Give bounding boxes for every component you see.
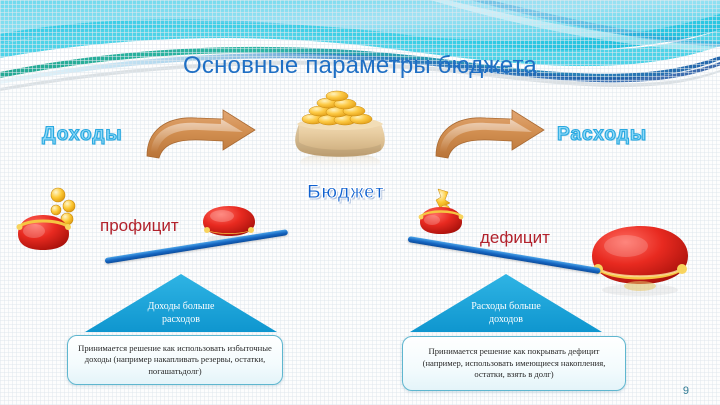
caption-surplus: профицит — [100, 216, 179, 236]
triangle-surplus-line2: расходов — [85, 313, 277, 326]
callout-surplus: Принимается решение как использовать изб… — [67, 335, 283, 385]
curved-arrow-right-icon-right — [432, 108, 547, 169]
triangle-surplus-text: Доходы больше расходов — [85, 300, 277, 326]
callout-deficit: Принимается решение как покрывать дефици… — [402, 336, 626, 391]
label-budget: Бюджет — [307, 182, 385, 204]
label-expenses: Расходы — [557, 124, 647, 146]
open-red-purse-with-coins-image — [12, 186, 98, 259]
page-title: Основные параметры бюджета — [0, 52, 720, 80]
triangle-deficit: Расходы больше доходов — [410, 274, 602, 334]
label-income: Доходы — [42, 124, 123, 146]
triangle-surplus: Доходы больше расходов — [85, 274, 277, 334]
caption-deficit: дефицит — [480, 228, 550, 248]
triangle-deficit-text: Расходы больше доходов — [410, 300, 602, 326]
slide: Основные параметры бюджета Доходы Расход… — [0, 0, 720, 405]
page-number: 9 — [683, 385, 689, 397]
triangle-deficit-line1: Расходы больше — [410, 300, 602, 313]
money-bag-with-coins-image — [283, 86, 397, 179]
triangle-deficit-line2: доходов — [410, 313, 602, 326]
triangle-surplus-line1: Доходы больше — [85, 300, 277, 313]
curved-arrow-right-icon-left — [143, 108, 258, 169]
